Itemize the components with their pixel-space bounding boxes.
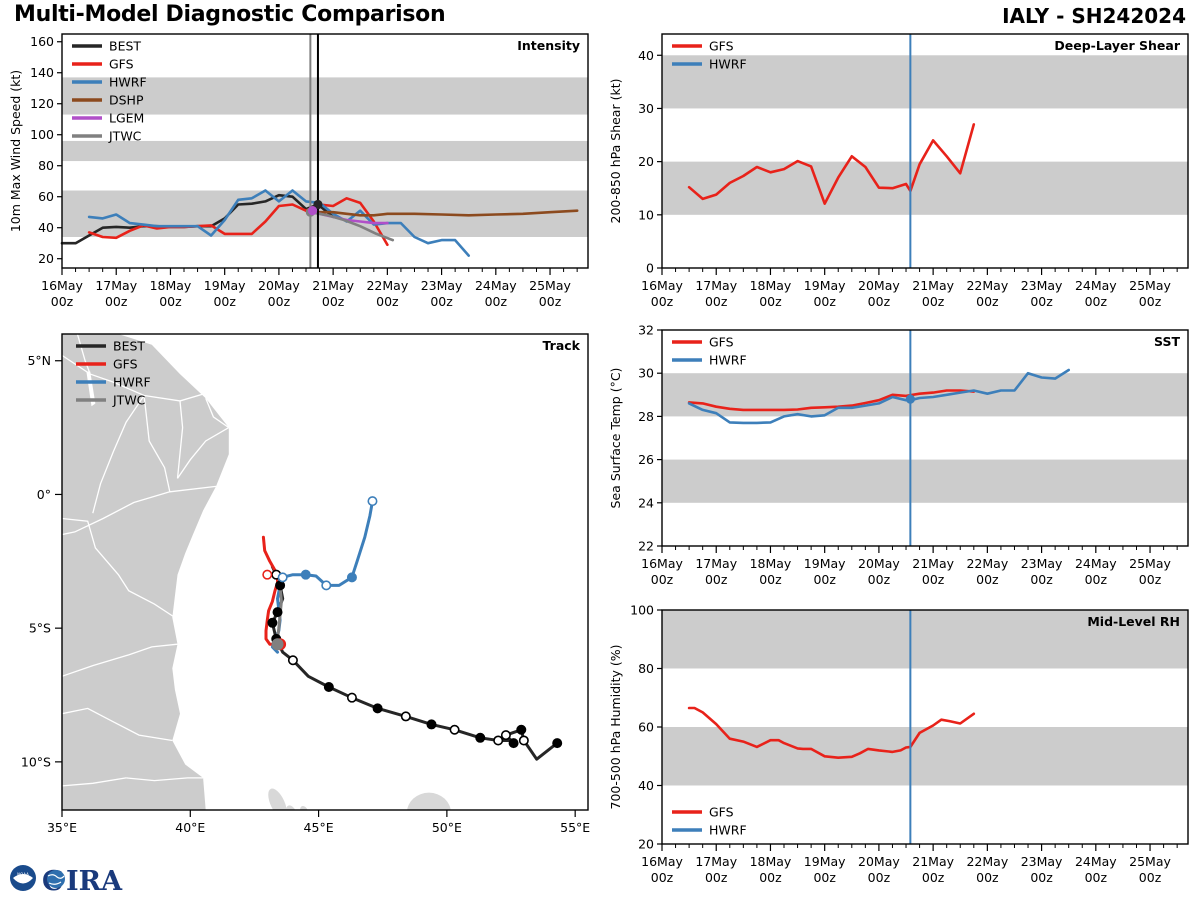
y-tick-label: 40: [638, 778, 654, 793]
x-tick-label-hour: 00z: [651, 870, 674, 885]
legend-label-gfs: GFS: [709, 335, 734, 350]
legend-label-gfs: GFS: [709, 39, 734, 54]
x-tick-label-hour: 00z: [705, 294, 728, 309]
y-tick-label: 20: [638, 837, 654, 852]
x-tick-label-day: 25May: [1129, 278, 1171, 293]
x-tick-label-hour: 00z: [485, 294, 508, 309]
y-tick-label: 140: [30, 65, 54, 80]
track-point-best-8: [427, 720, 435, 728]
legend-label-gfs: GFS: [109, 57, 134, 72]
x-tick-label-hour: 00z: [1085, 572, 1108, 587]
x-tick-label-day: 21May: [312, 278, 354, 293]
x-tick-label-hour: 00z: [759, 870, 782, 885]
x-tick-label-day: 23May: [1021, 278, 1063, 293]
x-tick-label-day: 16May: [641, 556, 683, 571]
y-tick-label: 160: [30, 34, 54, 49]
map-x-tick-label: 35°E: [47, 820, 77, 835]
x-tick-label-day: 17May: [695, 278, 737, 293]
y-tick-label: 60: [638, 720, 654, 735]
panel-title: SST: [1154, 334, 1180, 349]
track-point-best-4: [509, 739, 517, 747]
y-axis-label: 10m Max Wind Speed (kt): [8, 70, 23, 232]
x-tick-label-hour: 00z: [922, 572, 945, 587]
y-tick-label: 60: [38, 189, 54, 204]
x-tick-label-day: 24May: [1075, 854, 1117, 869]
y-tick-label: 80: [38, 158, 54, 173]
x-tick-label-hour: 00z: [705, 572, 728, 587]
x-tick-label-hour: 00z: [976, 294, 999, 309]
track-point-best-0: [553, 739, 561, 747]
y-tick-label: 80: [638, 661, 654, 676]
y-tick-label: 0: [646, 261, 654, 276]
legend-label-lgem: LGEM: [109, 111, 144, 126]
x-tick-label-day: 20May: [858, 854, 900, 869]
x-tick-label-hour: 00z: [1030, 572, 1053, 587]
shaded-band-1: [62, 141, 588, 161]
legend-label-best: BEST: [109, 39, 141, 54]
y-tick-label: 100: [30, 127, 54, 142]
y-tick-label: 10: [638, 207, 654, 222]
track-point-best-16: [273, 608, 281, 616]
x-tick-label-hour: 00z: [1139, 294, 1162, 309]
y-tick-label: 40: [638, 48, 654, 63]
track-point-best-6: [476, 734, 484, 742]
x-tick-label-day: 25May: [1129, 556, 1171, 571]
track-point-best-3: [502, 731, 510, 739]
x-tick-label-day: 20May: [858, 556, 900, 571]
x-tick-label-day: 16May: [641, 854, 683, 869]
x-tick-label-day: 16May: [41, 278, 83, 293]
track-point-best-5: [494, 736, 502, 744]
x-tick-label-hour: 00z: [868, 870, 891, 885]
panel-title: Mid-Level RH: [1087, 614, 1180, 629]
x-tick-label-hour: 00z: [539, 294, 562, 309]
shaded-band-0: [662, 162, 1188, 215]
legend-label-hwrf: HWRF: [709, 57, 747, 72]
marker-sst-current: [906, 395, 915, 404]
x-tick-label-hour: 00z: [430, 294, 453, 309]
x-tick-label-hour: 00z: [651, 572, 674, 587]
svg-text:NOAA: NOAA: [17, 872, 29, 877]
x-tick-label-hour: 00z: [105, 294, 128, 309]
marker-lgem-current: [308, 206, 317, 215]
track-point-best-2: [517, 726, 525, 734]
track-point-best-12: [325, 683, 333, 691]
y-tick-label: 20: [638, 154, 654, 169]
x-tick-label-day: 22May: [966, 278, 1008, 293]
legend-label-jtwc: JTWC: [108, 129, 142, 144]
legend-label-hwrf: HWRF: [709, 353, 747, 368]
x-tick-label-hour: 00z: [376, 294, 399, 309]
x-tick-label-hour: 00z: [1139, 870, 1162, 885]
x-tick-label-day: 21May: [912, 556, 954, 571]
track-panel: 35°E40°E45°E50°E55°E5°N0°5°S10°STrackBES…: [0, 326, 600, 866]
map-x-tick-label: 40°E: [175, 820, 205, 835]
island-moheli: [289, 818, 298, 826]
y-tick-label: 100: [630, 603, 654, 618]
noaa-icon: NOAA: [10, 865, 36, 891]
x-tick-label-day: 23May: [1021, 854, 1063, 869]
x-tick-label-hour: 00z: [1030, 870, 1053, 885]
cira-icon: C IRA: [42, 866, 123, 897]
x-tick-label-hour: 00z: [1030, 294, 1053, 309]
x-tick-label-hour: 00z: [51, 294, 74, 309]
track-point-gfs-1: [263, 570, 271, 578]
y-tick-label: 20: [38, 251, 54, 266]
track-point-hwrf-1: [302, 570, 310, 578]
x-tick-label-day: 16May: [641, 278, 683, 293]
track-point-hwrf-3: [348, 573, 356, 581]
y-tick-label: 32: [638, 323, 654, 338]
x-tick-label-day: 17May: [695, 854, 737, 869]
track-point-hwrf-4: [368, 497, 376, 505]
x-tick-label-day: 17May: [695, 556, 737, 571]
legend-label-hwrf: HWRF: [709, 823, 747, 838]
x-tick-label-hour: 00z: [868, 572, 891, 587]
x-tick-label-hour: 00z: [1085, 294, 1108, 309]
x-tick-label-day: 22May: [966, 854, 1008, 869]
legend-label-hwrf: HWRF: [109, 75, 147, 90]
x-tick-label-hour: 00z: [922, 294, 945, 309]
map-legend-label-best: BEST: [113, 339, 145, 354]
map-legend-label-hwrf: HWRF: [113, 375, 151, 390]
map-legend-label-jtwc: JTWC: [112, 393, 146, 408]
x-tick-label-day: 23May: [1021, 556, 1063, 571]
track-point-best-1: [520, 736, 528, 744]
shear-panel: 01020304016May00z17May00z18May00z19May00…: [600, 24, 1200, 324]
y-tick-label: 30: [638, 366, 654, 381]
x-tick-label-day: 20May: [858, 278, 900, 293]
x-tick-label-day: 18May: [150, 278, 192, 293]
track-point-best-15: [268, 619, 276, 627]
x-tick-label-hour: 00z: [976, 572, 999, 587]
y-tick-label: 30: [638, 101, 654, 116]
map-y-tick-label: 0°: [37, 487, 51, 502]
y-tick-label: 120: [30, 96, 54, 111]
y-axis-label: Sea Surface Temp (°C): [608, 368, 623, 509]
x-tick-label-day: 22May: [966, 556, 1008, 571]
map-y-tick-label: 5°S: [29, 621, 51, 636]
track-point-hwrf-0: [278, 573, 286, 581]
map-x-tick-label: 50°E: [432, 820, 462, 835]
y-tick-label: 24: [638, 495, 654, 510]
rh-panel: 2040608010016May00z17May00z18May00z19May…: [600, 600, 1200, 900]
map-x-tick-label: 45°E: [304, 820, 334, 835]
map-y-tick-label: 10°S: [21, 754, 51, 769]
svg-text:IRA: IRA: [66, 866, 123, 897]
x-tick-label-hour: 00z: [213, 294, 236, 309]
x-tick-label-hour: 00z: [322, 294, 345, 309]
panel-title: Deep-Layer Shear: [1054, 38, 1180, 53]
x-tick-label-day: 18May: [750, 556, 792, 571]
x-tick-label-day: 17May: [95, 278, 137, 293]
x-tick-label-day: 18May: [750, 278, 792, 293]
map-geography: [62, 334, 588, 847]
x-tick-label-day: 23May: [421, 278, 463, 293]
track-point-best-9: [402, 712, 410, 720]
intensity-panel: 2040608010012014016016May00z17May00z18Ma…: [0, 24, 600, 324]
y-tick-label: 22: [638, 539, 654, 554]
x-tick-label-day: 20May: [258, 278, 300, 293]
x-tick-label-hour: 00z: [976, 870, 999, 885]
y-axis-label: 700-500 hPa Humidity (%): [608, 644, 623, 809]
x-tick-label-hour: 00z: [1139, 572, 1162, 587]
noaa-cira-logo: NOAA C IRA: [8, 858, 128, 898]
x-tick-label-hour: 00z: [813, 294, 836, 309]
y-tick-label: 28: [638, 409, 654, 424]
x-tick-label-day: 19May: [204, 278, 246, 293]
x-tick-label-hour: 00z: [813, 572, 836, 587]
x-tick-label-day: 19May: [804, 854, 846, 869]
map-x-tick-label: 55°E: [560, 820, 590, 835]
x-tick-label-day: 19May: [804, 556, 846, 571]
x-tick-label-hour: 00z: [759, 294, 782, 309]
track-point-best-11: [348, 693, 356, 701]
track-point-best-13: [289, 656, 297, 664]
panel-title: Intensity: [517, 38, 580, 53]
x-tick-label-hour: 00z: [705, 870, 728, 885]
x-tick-label-day: 21May: [912, 278, 954, 293]
map-legend-label-gfs: GFS: [113, 357, 138, 372]
map-y-tick-label: 5°N: [27, 353, 51, 368]
map-panel-title: Track: [543, 338, 581, 353]
x-tick-label-day: 24May: [1075, 278, 1117, 293]
x-tick-label-day: 18May: [750, 854, 792, 869]
x-tick-label-day: 25May: [529, 278, 571, 293]
shaded-band-0: [662, 727, 1188, 786]
legend-label-dshp: DSHP: [109, 93, 144, 108]
x-tick-label-hour: 00z: [1085, 870, 1108, 885]
x-tick-label-hour: 00z: [651, 294, 674, 309]
x-tick-label-hour: 00z: [922, 870, 945, 885]
legend-label-gfs: GFS: [709, 805, 734, 820]
track-point-hwrf-2: [322, 581, 330, 589]
x-tick-label-day: 25May: [1129, 854, 1171, 869]
x-tick-label-hour: 00z: [759, 572, 782, 587]
track-point-best-17: [276, 581, 284, 589]
x-tick-label-hour: 00z: [159, 294, 182, 309]
x-tick-label-day: 24May: [1075, 556, 1117, 571]
x-tick-label-hour: 00z: [268, 294, 291, 309]
x-tick-label-hour: 00z: [868, 294, 891, 309]
y-axis-label: 200-850 hPa Shear (kt): [608, 79, 623, 224]
track-point-best-10: [373, 704, 381, 712]
x-tick-label-day: 21May: [912, 854, 954, 869]
y-tick-label: 40: [38, 220, 54, 235]
x-tick-label-day: 24May: [475, 278, 517, 293]
track-point-best-7: [450, 726, 458, 734]
sst-panel: 22242628303216May00z17May00z18May00z19Ma…: [600, 322, 1200, 602]
x-tick-label-hour: 00z: [813, 870, 836, 885]
shaded-band-0: [662, 460, 1188, 503]
track-point-jtwc-0: [272, 639, 282, 649]
x-tick-label-day: 19May: [804, 278, 846, 293]
y-tick-label: 26: [638, 452, 654, 467]
x-tick-label-day: 22May: [366, 278, 408, 293]
